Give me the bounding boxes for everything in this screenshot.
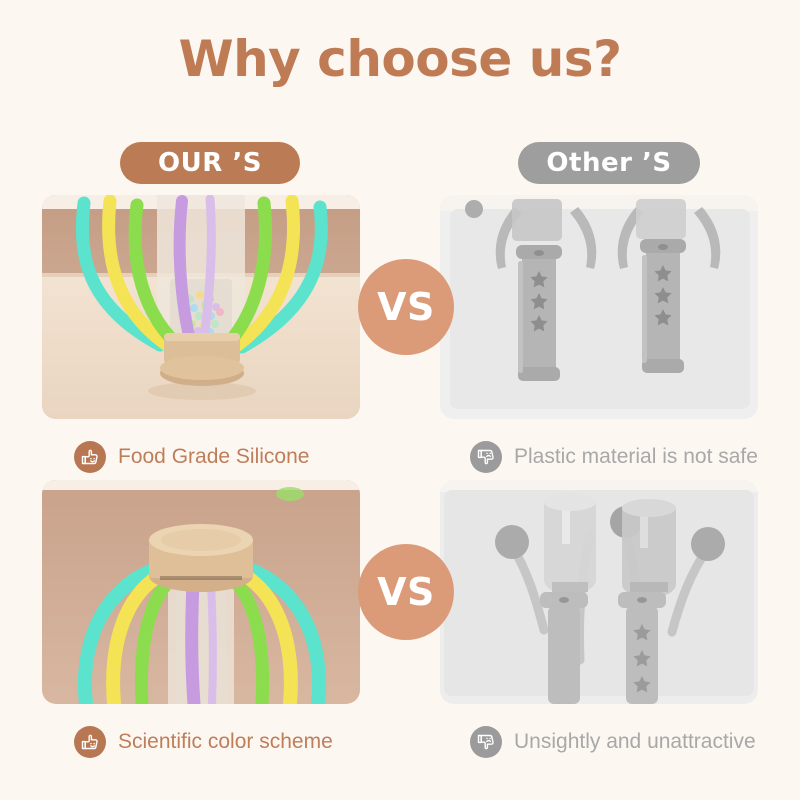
thumbs-up-icon xyxy=(74,441,106,473)
product-photo-others-1 xyxy=(440,195,758,419)
column-header-others: Other ’S xyxy=(518,142,700,184)
product-photo-ours-1 xyxy=(42,195,360,419)
product-photo-ours-2 xyxy=(42,480,360,704)
thumbs-down-icon xyxy=(470,441,502,473)
product-photo-others-2 xyxy=(440,480,758,704)
caption-others-2: Unsightly and unattractive xyxy=(470,726,756,758)
vs-badge-2: VS xyxy=(358,544,454,640)
column-header-ours: OUR ’S xyxy=(120,142,300,184)
caption-ours-1: Food Grade Silicone xyxy=(74,441,309,473)
caption-others-1: Plastic material is not safe xyxy=(470,441,758,473)
page-title: Why choose us? xyxy=(0,30,800,88)
caption-text: Unsightly and unattractive xyxy=(514,730,756,754)
thumbs-down-icon xyxy=(470,726,502,758)
caption-text: Plastic material is not safe xyxy=(514,445,758,469)
caption-ours-2: Scientific color scheme xyxy=(74,726,333,758)
caption-text: Scientific color scheme xyxy=(118,730,333,754)
vs-badge-1: VS xyxy=(358,259,454,355)
caption-text: Food Grade Silicone xyxy=(118,445,309,469)
thumbs-up-icon xyxy=(74,726,106,758)
